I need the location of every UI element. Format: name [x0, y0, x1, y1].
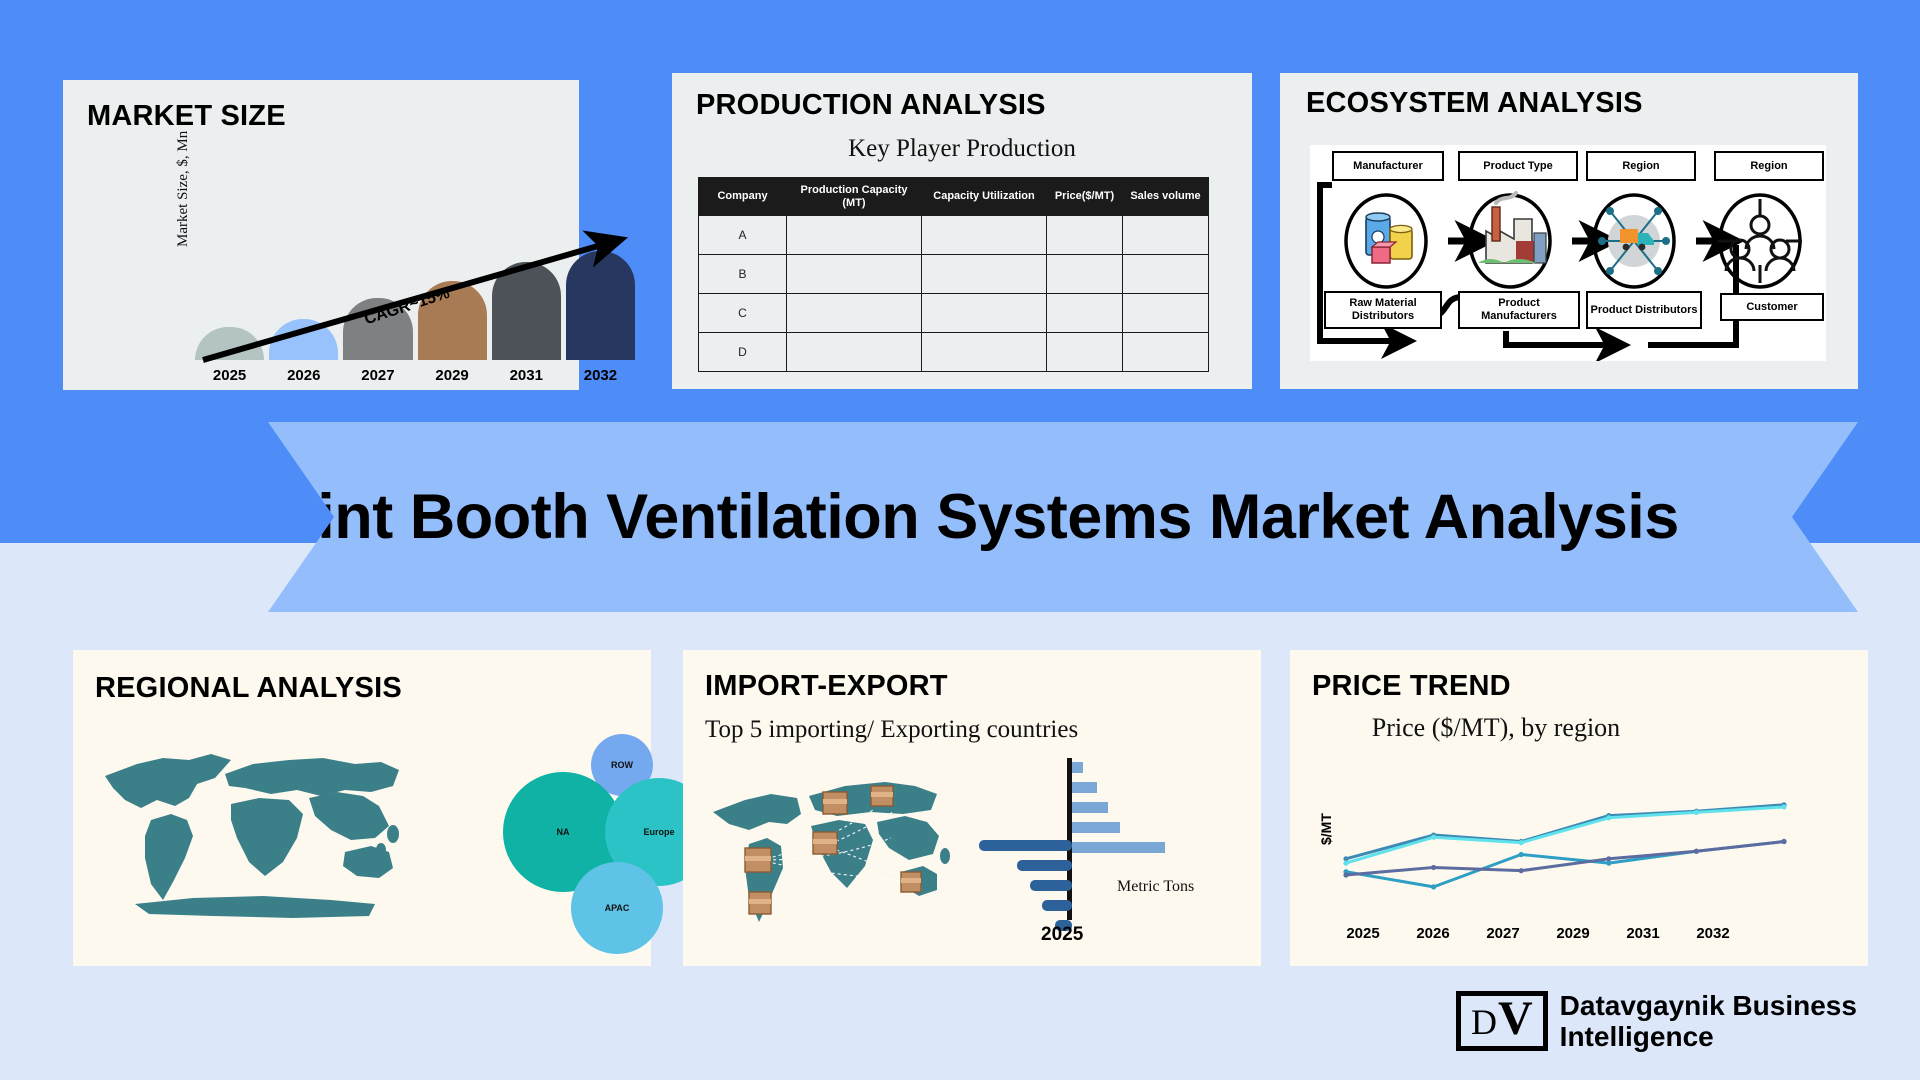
- export-bar: [1017, 860, 1072, 871]
- ecosystem-top-box: Region: [1714, 151, 1824, 181]
- import-bar: [1072, 822, 1120, 833]
- table-cell-price[interactable]: [1047, 294, 1123, 333]
- table-cell-capacity[interactable]: [787, 294, 922, 333]
- world-trade-map-icon: [705, 764, 965, 944]
- table-body: ABCD: [699, 216, 1209, 372]
- table-cell-utilization[interactable]: [922, 216, 1047, 255]
- market-size-bar-column: [195, 327, 264, 360]
- ecosystem-node-circle: [1470, 195, 1550, 287]
- table-cell-volume[interactable]: [1123, 333, 1209, 372]
- ecosystem-bottom-box: Raw Material Distributors: [1324, 291, 1442, 329]
- ecosystem-bottom-box: Customer: [1720, 293, 1824, 321]
- price-trend-data-point: [1343, 872, 1348, 877]
- table-header-row: CompanyProduction Capacity (MT)Capacity …: [699, 178, 1209, 216]
- metric-tons-label: Metric Tons: [1117, 878, 1194, 896]
- price-trend-y-axis-label: $/MT: [1318, 813, 1334, 845]
- table-column-header: Sales volume: [1123, 178, 1209, 216]
- ecosystem-analysis-title: ECOSYSTEM ANALYSIS: [1306, 87, 1643, 120]
- price-trend-data-point: [1519, 852, 1524, 857]
- market-size-year-label: 2025: [195, 367, 264, 384]
- table-cell-utilization[interactable]: [922, 294, 1047, 333]
- table-cell-price[interactable]: [1047, 216, 1123, 255]
- card-import-export: IMPORT-EXPORT Top 5 importing/ Exporting…: [683, 650, 1261, 966]
- table-cell-utilization[interactable]: [922, 255, 1047, 294]
- ecosystem-top-box: Manufacturer: [1332, 151, 1444, 181]
- market-size-bar-column: [566, 251, 635, 360]
- logo-wordmark: Datavgaynik Business Intelligence: [1560, 990, 1857, 1053]
- market-size-bar: [566, 251, 635, 360]
- price-trend-data-point: [1431, 865, 1436, 870]
- world-map-icon: [93, 734, 423, 924]
- price-trend-data-point: [1343, 861, 1348, 866]
- card-ecosystem-analysis: ECOSYSTEM ANALYSIS: [1280, 73, 1858, 389]
- import-export-bar-chart: Metric Tons 2025: [983, 758, 1213, 938]
- export-bar: [1042, 900, 1072, 911]
- price-trend-year-label: 2032: [1678, 925, 1748, 942]
- import-bar: [1072, 782, 1097, 793]
- logo-letter-d: D: [1471, 1001, 1497, 1043]
- price-trend-year-label: 2027: [1468, 925, 1538, 942]
- table-cell-company[interactable]: A: [699, 216, 787, 255]
- table-cell-company[interactable]: D: [699, 333, 787, 372]
- table-cell-utilization[interactable]: [922, 333, 1047, 372]
- logo-line-1: Datavgaynik Business: [1560, 990, 1857, 1021]
- market-size-year-label: 2032: [566, 367, 635, 384]
- ecosystem-bottom-box: Product Manufacturers: [1458, 291, 1580, 329]
- table-cell-volume[interactable]: [1123, 216, 1209, 255]
- ecosystem-top-box: Region: [1586, 151, 1696, 181]
- table-row[interactable]: A: [699, 216, 1209, 255]
- price-trend-data-point: [1519, 840, 1524, 845]
- key-player-production-table: CompanyProduction Capacity (MT)Capacity …: [698, 177, 1209, 372]
- price-trend-data-point: [1694, 849, 1699, 854]
- table-column-header: Capacity Utilization: [922, 178, 1047, 216]
- table-cell-company[interactable]: B: [699, 255, 787, 294]
- table-cell-volume[interactable]: [1123, 294, 1209, 333]
- ecosystem-node-circle: [1720, 195, 1800, 287]
- card-market-size: MARKET SIZE Market Size, $, Mn CAGR~15% …: [63, 80, 579, 390]
- production-analysis-subtitle: Key Player Production: [672, 135, 1252, 163]
- regional-analysis-title: REGIONAL ANALYSIS: [95, 672, 402, 705]
- market-size-x-axis-labels: 202520262027202920312032: [195, 367, 635, 384]
- market-size-bar-column: [269, 319, 338, 360]
- price-trend-year-label: 2026: [1398, 925, 1468, 942]
- price-trend-data-point: [1694, 810, 1699, 815]
- infographic-root: MARKET SIZE Market Size, $, Mn CAGR~15% …: [0, 0, 1920, 1080]
- price-trend-subtitle: Price ($/MT), by region: [1326, 712, 1666, 744]
- price-trend-data-point: [1519, 868, 1524, 873]
- market-size-bar: [269, 319, 338, 360]
- table-column-header: Price($/MT): [1047, 178, 1123, 216]
- import-bar: [1072, 802, 1108, 813]
- market-size-bar: [492, 262, 561, 360]
- export-bar: [1030, 880, 1072, 891]
- market-size-bar-column: [492, 262, 561, 360]
- price-trend-data-point: [1606, 856, 1611, 861]
- table-row[interactable]: D: [699, 333, 1209, 372]
- company-logo: D V Datavgaynik Business Intelligence: [1456, 990, 1857, 1053]
- market-size-plot: CAGR~15% 202520262027202920312032: [195, 240, 635, 390]
- ecosystem-bottom-box: Product Distributors: [1586, 291, 1702, 329]
- card-regional-analysis: REGIONAL ANALYSIS ROWNAEuropeAPAC: [73, 650, 651, 966]
- market-size-year-label: 2026: [269, 367, 338, 384]
- price-trend-year-label: 2031: [1608, 925, 1678, 942]
- table-cell-capacity[interactable]: [787, 216, 922, 255]
- price-trend-title: PRICE TREND: [1312, 670, 1511, 703]
- price-trend-x-axis-labels: 202520262027202920312032: [1328, 925, 1748, 942]
- import-export-year-label: 2025: [1041, 924, 1083, 946]
- table-cell-volume[interactable]: [1123, 255, 1209, 294]
- logo-letter-v: V: [1498, 997, 1533, 1040]
- price-trend-series-line: [1346, 805, 1784, 859]
- import-export-title: IMPORT-EXPORT: [705, 670, 948, 703]
- market-size-year-label: 2031: [492, 367, 561, 384]
- price-trend-data-point: [1781, 804, 1786, 809]
- production-analysis-title: PRODUCTION ANALYSIS: [696, 89, 1046, 122]
- logo-line-2: Intelligence: [1560, 1021, 1857, 1052]
- table-cell-capacity[interactable]: [787, 255, 922, 294]
- table-cell-company[interactable]: C: [699, 294, 787, 333]
- price-trend-data-point: [1431, 835, 1436, 840]
- card-production-analysis: PRODUCTION ANALYSIS Key Player Productio…: [672, 73, 1252, 389]
- price-trend-series-line: [1346, 807, 1784, 863]
- price-trend-line-chart: [1328, 782, 1798, 910]
- table-cell-price[interactable]: [1047, 255, 1123, 294]
- region-bubble-apac[interactable]: APAC: [571, 862, 663, 954]
- market-size-bar: [195, 327, 264, 360]
- table-cell-price[interactable]: [1047, 333, 1123, 372]
- market-size-year-label: 2029: [418, 367, 487, 384]
- logo-mark-dv: D V: [1456, 991, 1548, 1051]
- market-size-year-label: 2027: [343, 367, 412, 384]
- table-column-header: Production Capacity (MT): [787, 178, 922, 216]
- import-export-subtitle: Top 5 importing/ Exporting countries: [705, 716, 1225, 744]
- export-bar: [979, 840, 1072, 851]
- ecosystem-node-circle: [1594, 195, 1674, 287]
- ecosystem-node-circle: [1346, 195, 1426, 287]
- price-trend-year-label: 2029: [1538, 925, 1608, 942]
- market-size-y-axis-label: Market Size, $, Mn: [175, 131, 192, 247]
- price-trend-data-point: [1606, 815, 1611, 820]
- table-column-header: Company: [699, 178, 787, 216]
- ecosystem-diagram: ManufacturerProduct TypeRegionRegion Raw…: [1310, 145, 1826, 361]
- card-price-trend: PRICE TREND Price ($/MT), by region: [1290, 650, 1868, 966]
- table-row[interactable]: C: [699, 294, 1209, 333]
- page-title: Paint Booth Ventilation Systems Market A…: [241, 481, 1679, 553]
- price-trend-data-point: [1781, 839, 1786, 844]
- ecosystem-top-box: Product Type: [1458, 151, 1578, 181]
- price-trend-year-label: 2025: [1328, 925, 1398, 942]
- table-row[interactable]: B: [699, 255, 1209, 294]
- import-bar: [1072, 762, 1083, 773]
- import-bar: [1072, 842, 1165, 853]
- table-cell-capacity[interactable]: [787, 333, 922, 372]
- price-trend-data-point: [1431, 884, 1436, 889]
- market-size-title: MARKET SIZE: [87, 100, 286, 133]
